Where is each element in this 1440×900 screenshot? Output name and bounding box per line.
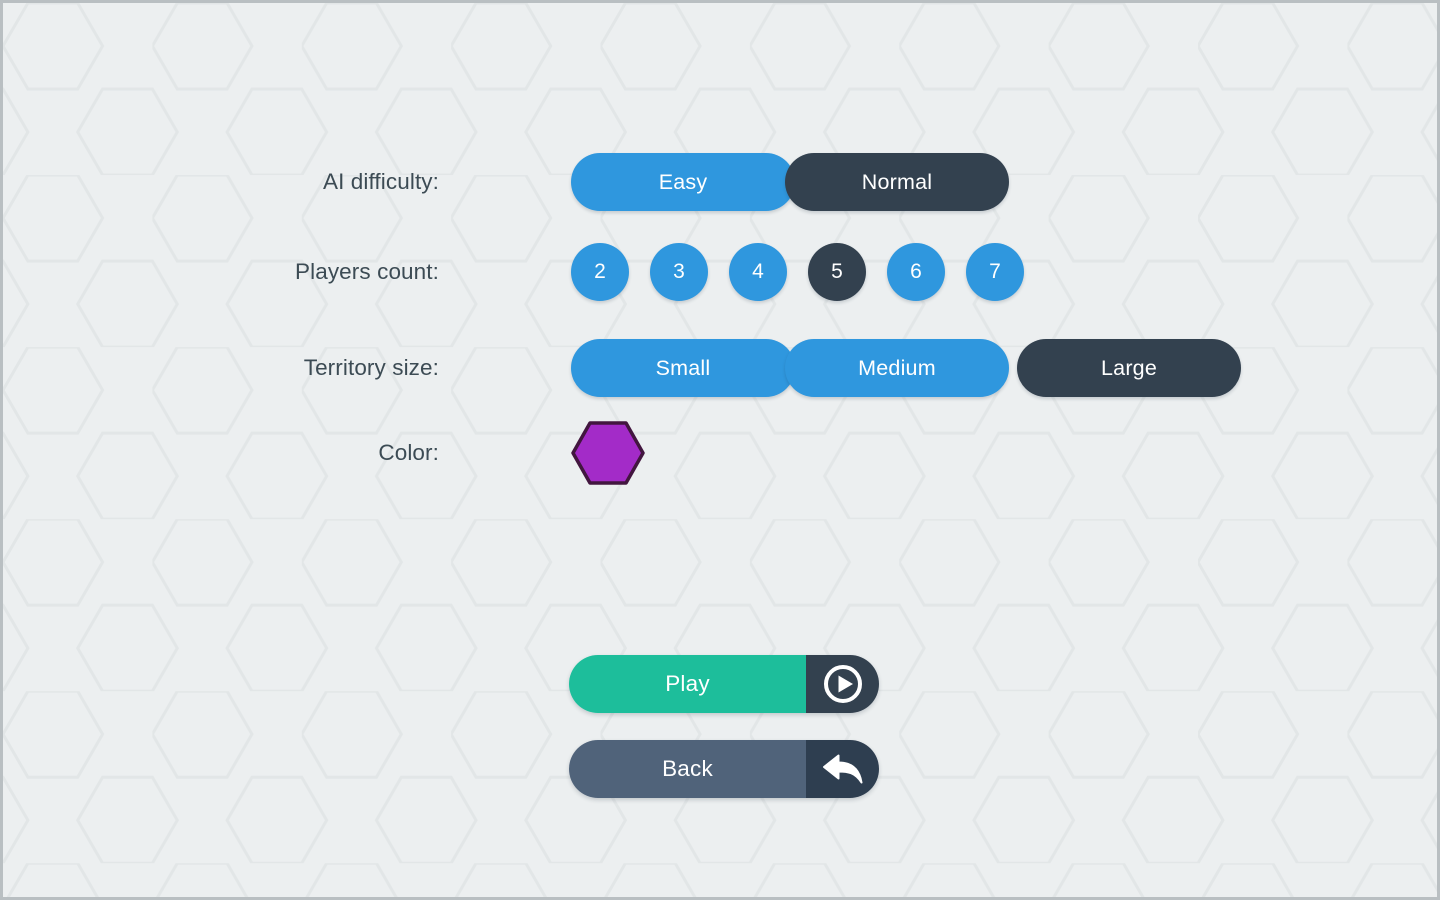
label-color: Color:: [19, 421, 439, 485]
option-players-count-2[interactable]: 2: [571, 243, 629, 301]
back-button[interactable]: Back: [569, 740, 879, 798]
option-label: Easy: [659, 170, 708, 195]
setting-row-color: Color:: [3, 421, 1437, 485]
option-ai-difficulty-easy[interactable]: Easy: [571, 153, 795, 211]
option-label: 5: [831, 260, 843, 284]
label-territory-size: Territory size:: [19, 355, 439, 381]
back-button-label: Back: [569, 740, 806, 798]
option-label: 4: [752, 260, 764, 284]
option-players-count-3[interactable]: 3: [650, 243, 708, 301]
option-group-players-count: 2 3 4 5 6 7: [571, 243, 1024, 301]
option-group-ai-difficulty: Easy Normal: [571, 153, 1009, 211]
option-label: Small: [656, 356, 711, 381]
back-arrow-icon: [806, 740, 879, 798]
option-label: Normal: [862, 170, 933, 195]
option-label: 6: [910, 260, 922, 284]
hexagon-icon[interactable]: [571, 421, 645, 485]
game-window: AI difficulty: Easy Normal Players count…: [0, 0, 1440, 900]
play-button-label: Play: [569, 655, 806, 713]
option-ai-difficulty-normal[interactable]: Normal: [785, 153, 1009, 211]
label-ai-difficulty: AI difficulty:: [19, 169, 439, 195]
option-group-color: [571, 421, 645, 485]
label-players-count: Players count:: [19, 259, 439, 285]
option-label: 7: [989, 260, 1001, 284]
option-label: Medium: [858, 356, 936, 381]
option-players-count-6[interactable]: 6: [887, 243, 945, 301]
option-label: Large: [1101, 356, 1157, 381]
option-label: 3: [673, 260, 685, 284]
play-circle-icon: [806, 655, 879, 713]
setting-row-ai-difficulty: AI difficulty: Easy Normal: [3, 153, 1437, 211]
option-territory-size-large[interactable]: Large: [1017, 339, 1241, 397]
option-group-territory-size: Small Medium Large: [571, 339, 1241, 397]
option-territory-size-small[interactable]: Small: [571, 339, 795, 397]
play-button[interactable]: Play: [569, 655, 879, 713]
option-territory-size-medium[interactable]: Medium: [785, 339, 1009, 397]
option-players-count-7[interactable]: 7: [966, 243, 1024, 301]
option-players-count-5[interactable]: 5: [808, 243, 866, 301]
option-label: 2: [594, 260, 606, 284]
setting-row-territory-size: Territory size: Small Medium Large: [3, 339, 1437, 397]
option-players-count-4[interactable]: 4: [729, 243, 787, 301]
setting-row-players-count: Players count: 2 3 4 5 6 7: [3, 243, 1437, 301]
